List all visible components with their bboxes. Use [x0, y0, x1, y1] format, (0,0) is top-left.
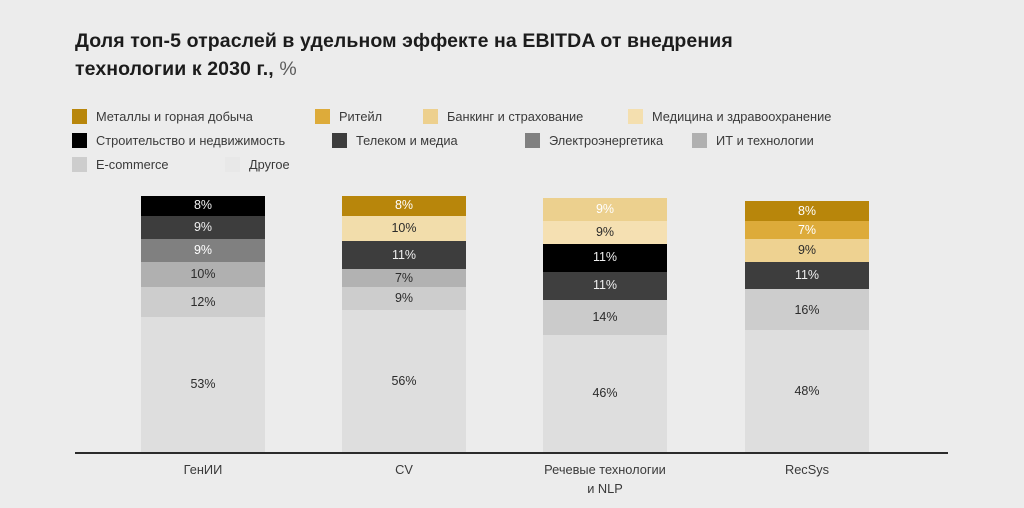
title-unit: %	[279, 58, 296, 80]
legend-swatch-ecommerce	[72, 157, 87, 172]
bar-segment[interactable]: 48%	[745, 330, 869, 452]
legend-item-banking[interactable]: Банкинг и страхование	[423, 104, 583, 128]
legend-swatch-metals	[72, 109, 87, 124]
legend-item-construction[interactable]: Строительство и недвижимость	[72, 128, 285, 152]
segment-value-label: 46%	[592, 387, 617, 400]
bar-3[interactable]: 9%9%11%11%14%46%	[543, 198, 667, 452]
bar-segment[interactable]: 7%	[745, 221, 869, 239]
segment-value-label: 9%	[194, 221, 212, 234]
legend-row: Металлы и горная добычаРитейлБанкинг и с…	[72, 104, 902, 128]
legend-swatch-it	[692, 133, 707, 148]
legend-label-ecommerce: E-commerce	[96, 157, 169, 172]
legend-swatch-retail	[315, 109, 330, 124]
legend-row: E-commerceДругое	[72, 152, 902, 176]
chart-page: Доля топ-5 отраслей в удельном эффекте н…	[0, 0, 1024, 508]
bar-segment[interactable]: 11%	[342, 241, 466, 269]
bar-1[interactable]: 8%9%9%10%12%53%	[141, 196, 265, 453]
legend-label-metals: Металлы и горная добыча	[96, 109, 253, 124]
legend-label-banking: Банкинг и страхование	[447, 109, 583, 124]
bar-segment[interactable]: 8%	[141, 196, 265, 216]
segment-value-label: 7%	[798, 224, 816, 237]
segment-value-label: 8%	[395, 199, 413, 212]
segment-value-label: 11%	[392, 249, 416, 262]
legend-swatch-banking	[423, 109, 438, 124]
segment-value-label: 9%	[194, 244, 212, 257]
legend-item-ecommerce[interactable]: E-commerce	[72, 152, 169, 176]
legend-label-it: ИТ и технологии	[716, 133, 814, 148]
segment-value-label: 8%	[798, 205, 816, 218]
bar-segment[interactable]: 8%	[342, 196, 466, 216]
segment-value-label: 11%	[795, 269, 819, 282]
legend-swatch-power	[525, 133, 540, 148]
segment-value-label: 9%	[596, 226, 614, 239]
bar-segment[interactable]: 9%	[543, 198, 667, 221]
bar-segment[interactable]: 9%	[342, 287, 466, 310]
bar-segment[interactable]: 11%	[543, 272, 667, 300]
segment-value-label: 11%	[593, 251, 617, 264]
legend-swatch-telecom	[332, 133, 347, 148]
bar-segment[interactable]: 46%	[543, 335, 667, 452]
bar-segment[interactable]: 9%	[543, 221, 667, 244]
legend-item-retail[interactable]: Ритейл	[315, 104, 382, 128]
legend-label-other: Другое	[249, 157, 290, 172]
bar-segment[interactable]: 9%	[141, 216, 265, 239]
bar-segment[interactable]: 53%	[141, 317, 265, 452]
legend-label-retail: Ритейл	[339, 109, 382, 124]
legend-label-power: Электроэнергетика	[549, 133, 663, 148]
title-line-2: технологии к 2030 г.,	[75, 58, 274, 80]
bar-segment[interactable]: 11%	[543, 244, 667, 272]
segment-value-label: 10%	[391, 222, 416, 235]
legend-swatch-other	[225, 157, 240, 172]
bar-segment[interactable]: 10%	[141, 262, 265, 287]
segment-value-label: 7%	[395, 272, 413, 285]
segment-value-label: 14%	[592, 311, 617, 324]
legend-item-metals[interactable]: Металлы и горная добыча	[72, 104, 253, 128]
segment-value-label: 48%	[794, 385, 819, 398]
legend-item-it[interactable]: ИТ и технологии	[692, 128, 814, 152]
page-title: Доля топ-5 отраслей в удельном эффекте н…	[75, 28, 855, 83]
legend-item-medicine[interactable]: Медицина и здравоохранение	[628, 104, 831, 128]
segment-value-label: 56%	[391, 375, 416, 388]
segment-value-label: 9%	[596, 203, 614, 216]
chart-legend: Металлы и горная добычаРитейлБанкинг и с…	[72, 104, 902, 176]
bar-segment[interactable]: 10%	[342, 216, 466, 241]
bar-segment[interactable]: 12%	[141, 287, 265, 317]
segment-value-label: 12%	[190, 296, 215, 309]
legend-label-medicine: Медицина и здравоохранение	[652, 109, 831, 124]
legend-row: Строительство и недвижимостьТелеком и ме…	[72, 128, 902, 152]
bar-4[interactable]: 8%7%9%11%16%48%	[745, 201, 869, 452]
segment-value-label: 9%	[798, 244, 816, 257]
segment-value-label: 10%	[190, 268, 215, 281]
bar-segment[interactable]: 9%	[745, 239, 869, 262]
segment-value-label: 16%	[794, 304, 819, 317]
segment-value-label: 9%	[395, 292, 413, 305]
legend-item-power[interactable]: Электроэнергетика	[525, 128, 663, 152]
legend-item-telecom[interactable]: Телеком и медиа	[332, 128, 458, 152]
legend-label-construction: Строительство и недвижимость	[96, 133, 285, 148]
bar-segment[interactable]: 56%	[342, 310, 466, 452]
bar-segment[interactable]: 9%	[141, 239, 265, 262]
legend-swatch-medicine	[628, 109, 643, 124]
segment-value-label: 8%	[194, 199, 212, 212]
bar-segment[interactable]: 8%	[745, 201, 869, 221]
segment-value-label: 11%	[593, 279, 617, 292]
bar-segment[interactable]: 7%	[342, 269, 466, 287]
bar-segment[interactable]: 16%	[745, 289, 869, 330]
bar-2[interactable]: 8%10%11%7%9%56%	[342, 196, 466, 453]
bar-segment[interactable]: 14%	[543, 300, 667, 336]
segment-value-label: 53%	[190, 378, 215, 391]
title-line-1: Доля топ-5 отраслей в удельном эффекте н…	[75, 30, 733, 52]
bar-segment[interactable]: 11%	[745, 262, 869, 290]
legend-label-telecom: Телеком и медиа	[356, 133, 458, 148]
legend-item-other[interactable]: Другое	[225, 152, 290, 176]
legend-swatch-construction	[72, 133, 87, 148]
